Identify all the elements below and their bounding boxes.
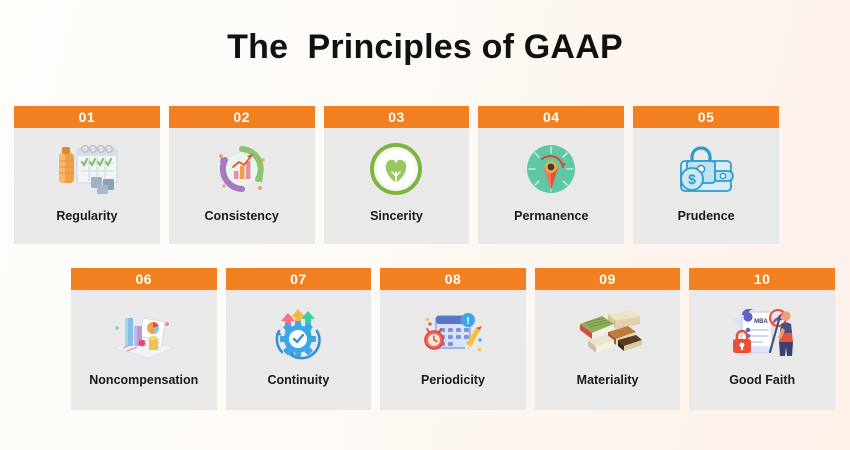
card-label: Prudence bbox=[678, 210, 735, 244]
svg-text:$: $ bbox=[688, 171, 696, 187]
principle-card-materiality[interactable]: 09 bbox=[535, 268, 681, 410]
card-label: Noncompensation bbox=[89, 374, 198, 410]
card-number: 01 bbox=[14, 106, 160, 128]
svg-text:!: ! bbox=[466, 316, 469, 327]
card-label: Regularity bbox=[56, 210, 117, 244]
card-number: 10 bbox=[689, 268, 835, 290]
circular-arrows-chart-icon bbox=[169, 128, 315, 210]
principle-card-noncompensation[interactable]: 06 bbox=[71, 268, 217, 410]
card-number: 09 bbox=[535, 268, 681, 290]
compass-icon bbox=[478, 128, 624, 210]
principle-card-prudence[interactable]: 05 $ Prudence bbox=[633, 106, 779, 244]
card-number: 02 bbox=[169, 106, 315, 128]
principle-card-sincerity[interactable]: 03 Sincerity bbox=[324, 106, 470, 244]
principle-card-good-faith[interactable]: 10 MBA bbox=[689, 268, 835, 410]
principles-row-2: 06 bbox=[71, 268, 835, 410]
principles-row-1: 01 bbox=[14, 106, 779, 244]
card-label: Sincerity bbox=[370, 210, 423, 244]
card-number: 08 bbox=[380, 268, 526, 290]
document-lock-person-icon: MBA bbox=[689, 290, 835, 374]
svg-text:MBA: MBA bbox=[754, 319, 768, 325]
principle-card-continuity[interactable]: 07 bbox=[226, 268, 372, 410]
checklist-bottle-icon bbox=[14, 128, 160, 210]
card-number: 04 bbox=[478, 106, 624, 128]
heart-circle-icon bbox=[324, 128, 470, 210]
page-title: The Principles of GAAP bbox=[0, 28, 850, 67]
card-number: 07 bbox=[226, 268, 372, 290]
card-label: Materiality bbox=[577, 374, 639, 410]
card-label: Continuity bbox=[267, 374, 329, 410]
bar-chart-report-icon bbox=[71, 290, 217, 374]
principle-card-regularity[interactable]: 01 bbox=[14, 106, 160, 244]
stacked-books-icon bbox=[535, 290, 681, 374]
calendar-clock-icon: ! bbox=[380, 290, 526, 374]
card-number: 05 bbox=[633, 106, 779, 128]
card-number: 03 bbox=[324, 106, 470, 128]
card-label: Permanence bbox=[514, 210, 588, 244]
principle-card-periodicity[interactable]: 08 ! bbox=[380, 268, 526, 410]
gaap-principles-infographic: The Principles of GAAP 01 bbox=[0, 0, 850, 450]
card-number: 06 bbox=[71, 268, 217, 290]
principle-card-consistency[interactable]: 02 bbox=[169, 106, 315, 244]
card-label: Good Faith bbox=[729, 374, 795, 410]
padlock-wallet-icon: $ bbox=[633, 128, 779, 210]
gear-arrows-icon bbox=[226, 290, 372, 374]
principle-card-permanence[interactable]: 04 bbox=[478, 106, 624, 244]
card-label: Consistency bbox=[205, 210, 279, 244]
card-label: Periodicity bbox=[421, 374, 485, 410]
